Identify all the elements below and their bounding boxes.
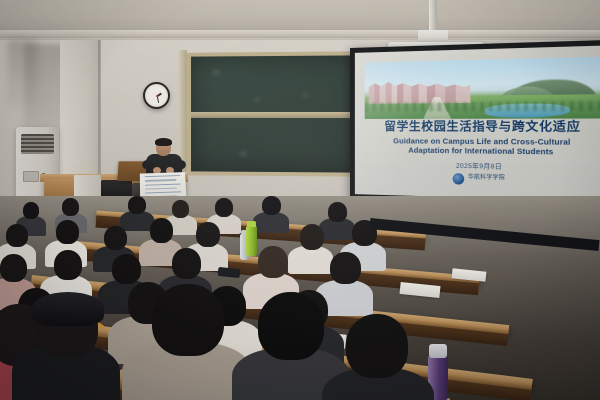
document-line — [145, 191, 181, 193]
document-line — [145, 183, 181, 185]
slide-title-english-line2: Adaptation for International Students — [355, 145, 600, 158]
slide-school-name: 华航科学学院 — [468, 176, 505, 183]
audience-seating-area — [0, 196, 600, 400]
person-head — [128, 196, 146, 214]
green-thermos — [246, 226, 257, 256]
green-chalkboard — [187, 51, 367, 176]
person-head — [150, 218, 173, 243]
person-head — [62, 198, 79, 216]
chalk-smudge — [213, 70, 220, 74]
projection-screen: 留学生校园生活指导与跨文化适应 Guidance on Campus Life … — [350, 40, 600, 209]
slide-surface: 留学生校园生活指导与跨文化适应 Guidance on Campus Life … — [355, 45, 600, 201]
university-emblem-icon — [453, 173, 465, 185]
smartphone-on-desk — [218, 267, 241, 278]
person-head — [172, 248, 201, 279]
clock-face — [147, 86, 166, 105]
thermos-cap — [247, 221, 256, 227]
person-head — [152, 284, 224, 356]
projector-mount-pole — [429, 0, 437, 34]
wall-stain-upper — [8, 40, 38, 110]
person-head — [112, 254, 141, 284]
person-head — [54, 250, 82, 280]
person-shoulders — [253, 212, 289, 233]
person-head — [328, 202, 347, 222]
document-line — [145, 175, 181, 177]
person-head — [262, 196, 281, 215]
ac-vent-grill — [21, 134, 54, 154]
person-head — [56, 220, 79, 244]
person-shoulders — [288, 246, 333, 274]
person-shoulders — [120, 211, 154, 231]
person-head — [258, 292, 324, 360]
clock-center-dot — [156, 95, 158, 97]
slide-date: 2025年9月8日 — [355, 159, 600, 173]
slide-title-chinese: 留学生校园生活指导与跨文化适应 — [355, 120, 600, 135]
person-head — [330, 252, 361, 284]
chalk-ledge — [191, 112, 363, 118]
ac-control-panel — [23, 171, 39, 182]
clock-minute-hand — [156, 95, 159, 103]
person-head — [23, 202, 39, 219]
slide-footer-logo: 华航科学学院 — [355, 171, 600, 188]
person-head — [346, 314, 408, 378]
slide-campus-photo — [364, 56, 600, 119]
person-head — [0, 254, 27, 282]
black-cap — [32, 292, 104, 326]
slide-text-block: 留学生校园生活指导与跨文化适应 Guidance on Campus Life … — [355, 120, 600, 188]
person-head — [172, 200, 189, 218]
bottle-cap — [429, 344, 447, 358]
presenter-hair — [155, 138, 172, 146]
document-line — [145, 187, 177, 189]
person-head — [215, 198, 233, 217]
chalk-smudge — [240, 152, 246, 156]
person-head — [6, 224, 28, 247]
lecture-hall-photo: 留学生校园生活指导与跨文化适应 Guidance on Campus Life … — [0, 0, 600, 400]
chalk-smudge — [302, 94, 308, 97]
chalk-smudge — [254, 98, 259, 101]
person-head — [258, 246, 288, 278]
person-head — [196, 222, 220, 247]
person-head — [104, 226, 127, 250]
ceiling — [0, 0, 600, 34]
document-line — [145, 179, 177, 181]
person-head — [300, 224, 324, 250]
photo-campus-buildings — [369, 79, 471, 104]
photo-treeline — [364, 101, 600, 112]
wall-clock-icon — [143, 82, 170, 109]
